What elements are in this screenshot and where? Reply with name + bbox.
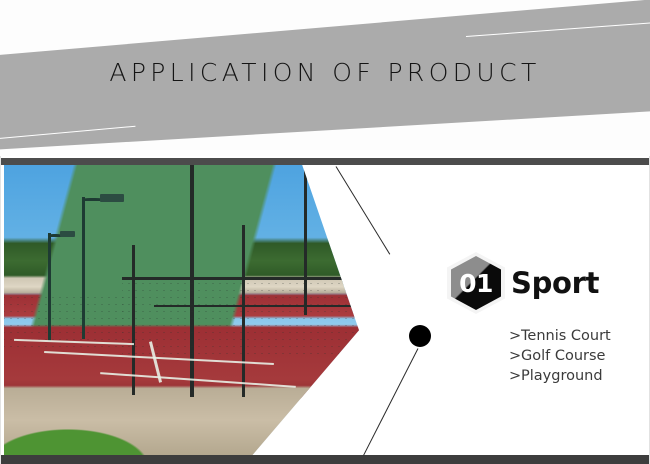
list-item: >Playground: [509, 366, 647, 386]
list-item-label: Tennis Court: [521, 328, 611, 344]
section-heading: Sport: [511, 269, 599, 298]
content-block-sport: 01 Sport >Tennis Court >Golf Course >Pla…: [447, 252, 647, 386]
court-line: [100, 372, 296, 388]
slide-canvas: APPLICATION OF PRODUCT: [0, 0, 650, 464]
application-photo: [4, 165, 359, 455]
list-item: >Tennis Court: [509, 326, 647, 346]
hexagon-badge-icon: 01: [447, 252, 505, 314]
heading-row: 01 Sport: [447, 252, 647, 314]
connector-node-dot: [409, 325, 431, 347]
list-item-label: Golf Course: [521, 348, 605, 364]
caret-icon: >: [509, 366, 521, 386]
body-rule-bottom: [1, 455, 650, 464]
lamp-head-icon: [60, 231, 75, 237]
bullet-list: >Tennis Court >Golf Course >Playground: [447, 326, 647, 386]
badge-number: 01: [447, 252, 505, 314]
fence-mesh-icon: [122, 277, 359, 355]
list-item-label: Playground: [521, 368, 603, 384]
lamp-pole-icon: [82, 197, 85, 339]
page-title: APPLICATION OF PRODUCT: [0, 60, 650, 85]
caret-icon: >: [509, 326, 521, 346]
body-rule-top: [1, 158, 650, 165]
slide-header: APPLICATION OF PRODUCT: [0, 0, 650, 156]
lamp-pole-icon: [48, 233, 51, 341]
lamp-head-icon: [100, 194, 124, 202]
photo-detail-layer: [4, 165, 359, 455]
caret-icon: >: [509, 346, 521, 366]
list-item: >Golf Course: [509, 346, 647, 366]
